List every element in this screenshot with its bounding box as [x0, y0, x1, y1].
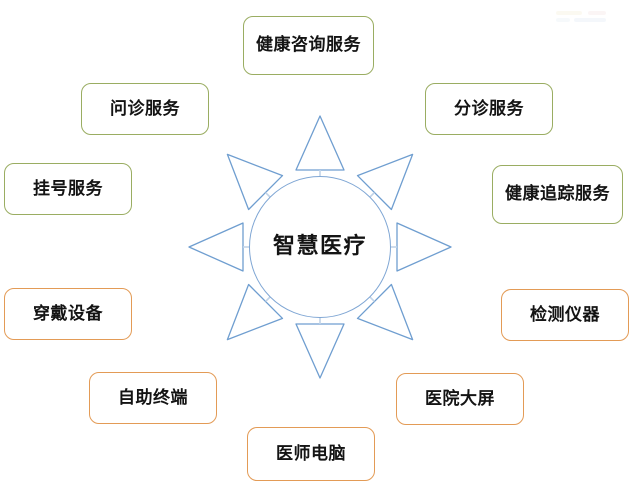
node-label: 问诊服务	[110, 99, 180, 120]
hub-circle: 智慧医疗	[249, 176, 391, 318]
hub-label: 智慧医疗	[273, 235, 367, 259]
node-health-consult[interactable]: 健康咨询服务	[243, 16, 374, 75]
node-inquiry[interactable]: 问诊服务	[81, 83, 209, 135]
node-hospital-screen[interactable]: 医院大屏	[396, 373, 524, 425]
watermark	[554, 10, 628, 26]
node-label: 健康追踪服务	[505, 184, 610, 205]
diagram-canvas: 智慧医疗 健康咨询服务 问诊服务 挂号服务 穿戴设备 自助终端 医师电脑 医院大…	[0, 0, 640, 486]
ray-down-right-stem	[370, 297, 375, 302]
node-detection-device[interactable]: 检测仪器	[501, 289, 629, 341]
node-label: 医师电脑	[276, 444, 346, 465]
ray-up	[296, 116, 344, 170]
node-wearable[interactable]: 穿戴设备	[4, 288, 132, 340]
node-registration[interactable]: 挂号服务	[4, 163, 132, 215]
node-self-service[interactable]: 自助终端	[89, 372, 217, 424]
node-label: 分诊服务	[454, 99, 524, 120]
node-label: 自助终端	[118, 388, 188, 409]
node-health-tracking[interactable]: 健康追踪服务	[492, 165, 623, 224]
ray-right	[397, 223, 451, 271]
node-doctor-pc[interactable]: 医师电脑	[247, 427, 375, 481]
node-label: 检测仪器	[530, 305, 600, 326]
node-label: 挂号服务	[33, 179, 103, 200]
node-label: 医院大屏	[425, 389, 495, 410]
node-label: 健康咨询服务	[256, 35, 361, 56]
ray-down	[296, 324, 344, 378]
node-triage[interactable]: 分诊服务	[425, 83, 553, 135]
ray-left	[189, 223, 243, 271]
node-label: 穿戴设备	[33, 304, 103, 325]
